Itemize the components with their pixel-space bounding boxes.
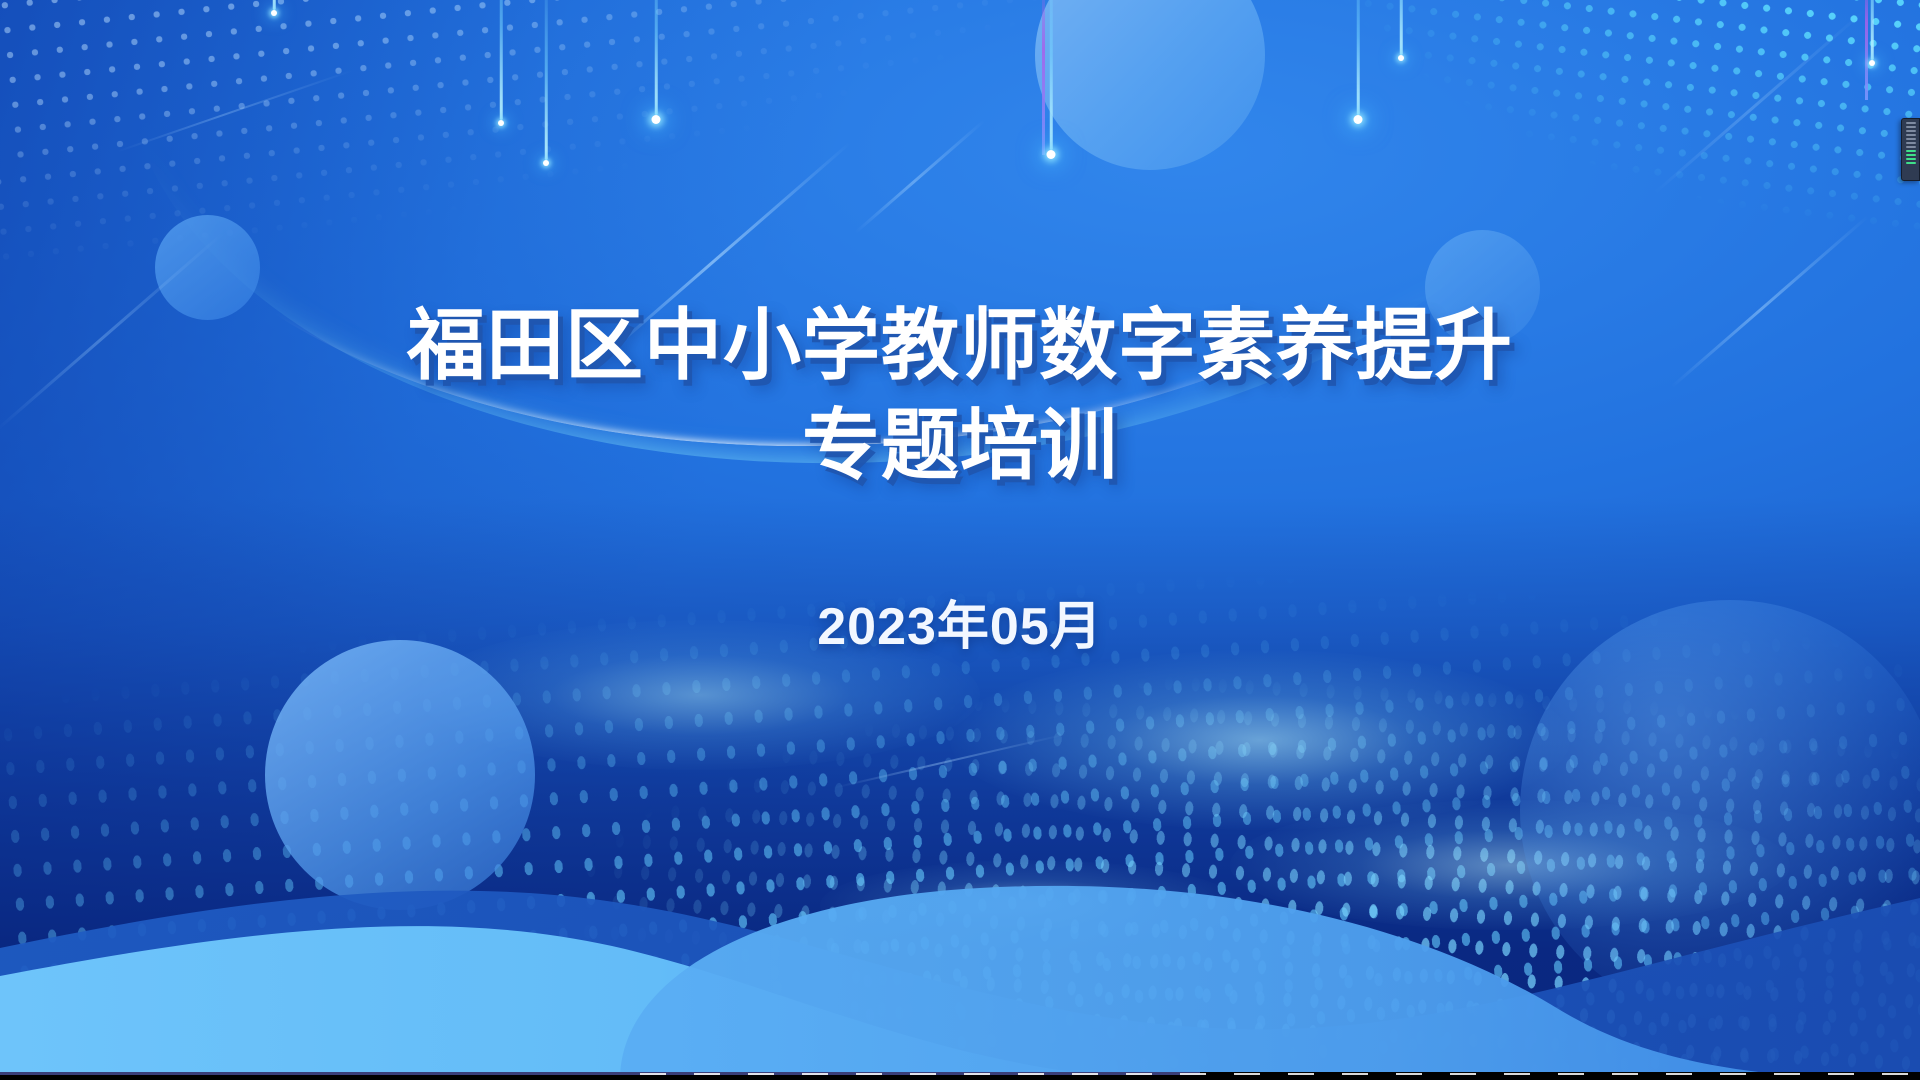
- level-bar: [1906, 150, 1916, 152]
- level-bar: [1906, 134, 1916, 136]
- slide-date: 2023年05月: [0, 496, 1920, 659]
- level-bar: [1906, 154, 1916, 156]
- level-bar: [1906, 158, 1916, 160]
- level-indicator-widget[interactable]: [1901, 118, 1920, 181]
- level-bar: [1906, 130, 1916, 132]
- slide-title-line-1: 福田区中小学教师数字素养提升: [0, 296, 1920, 396]
- bottom-chrome-strip: [0, 1072, 1920, 1080]
- level-bar: [1906, 122, 1916, 124]
- level-bar: [1906, 138, 1916, 140]
- presentation-slide: 福田区中小学教师数字素养提升 专题培训 2023年05月: [0, 0, 1920, 1080]
- bottom-ticks: [640, 1073, 1910, 1075]
- bottom-waves: [0, 780, 1920, 1080]
- level-bar: [1906, 126, 1916, 128]
- slide-title-line-2: 专题培训: [0, 396, 1920, 496]
- level-bar: [1906, 146, 1916, 148]
- slide-content: 福田区中小学教师数字素养提升 专题培训 2023年05月: [0, 0, 1920, 659]
- level-bar: [1906, 162, 1916, 164]
- slide-title: 福田区中小学教师数字素养提升 专题培训: [0, 0, 1920, 496]
- level-bar: [1906, 142, 1916, 144]
